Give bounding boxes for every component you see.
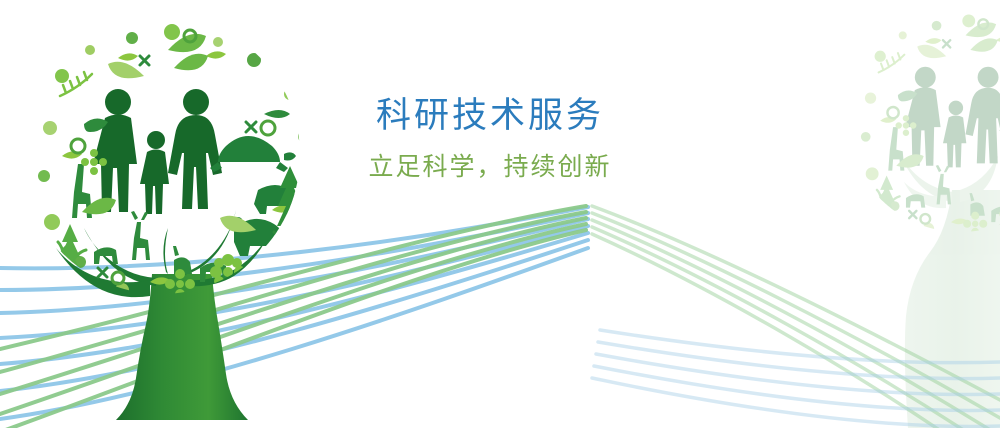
tree-left-main <box>38 24 318 420</box>
banner-tagline: 立足科学，持续创新 <box>330 151 650 183</box>
hero-banner: 科研技术服务 立足科学，持续创新 <box>0 0 1000 428</box>
banner-artwork <box>0 0 1000 428</box>
banner-headline: 科研技术服务 <box>330 95 650 137</box>
banner-text-block: 科研技术服务 立足科学，持续创新 <box>330 95 650 183</box>
